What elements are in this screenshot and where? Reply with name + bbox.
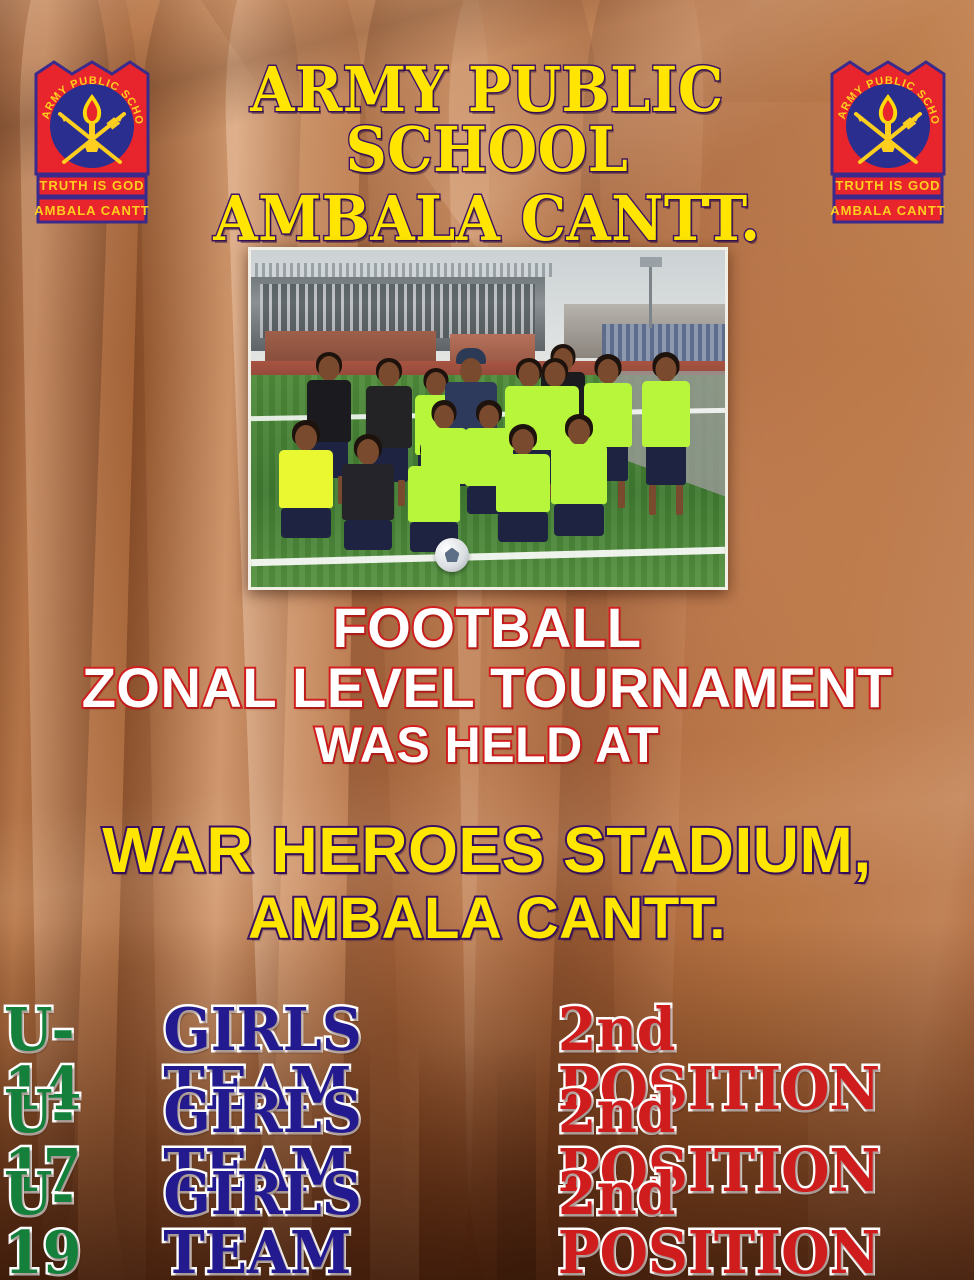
venue-line-1: WAR HEROES STADIUM, xyxy=(0,818,974,883)
school-crest-left: ARMY PUBLIC SCHOOL TRUTH IS GOD AMBALA C xyxy=(28,56,156,226)
result-row: U-14 GIRLS TEAM 2nd POSITION xyxy=(0,1000,974,1082)
result-team-label: GIRLS TEAM xyxy=(163,1164,519,1280)
event-line-2: ZONAL LEVEL TOURNAMENT xyxy=(0,660,974,716)
venue-text-block: WAR HEROES STADIUM, AMBALA CANTT. xyxy=(0,818,974,948)
school-crest-icon: ARMY PUBLIC SCHOOL TRUTH IS GOD AMBALA C xyxy=(28,56,156,226)
result-age-group: U-19 xyxy=(4,1164,134,1280)
poster-header: ARMY PUBLIC SCHOOL TRUTH IS GOD AMBALA C xyxy=(0,46,974,246)
result-position: 2nd POSITION xyxy=(558,1164,961,1280)
player-figure xyxy=(547,416,611,544)
player-figure xyxy=(275,422,337,544)
crest-motto: TRUTH IS GOD xyxy=(39,178,144,193)
venue-line-2: AMBALA CANTT. xyxy=(0,889,974,948)
school-title-line2: AMBALA CANTT. xyxy=(186,189,788,249)
result-row: U-17 GIRLS TEAM 2nd POSITION xyxy=(0,1082,974,1164)
school-title: ARMY PUBLIC SCHOOL AMBALA CANTT. xyxy=(160,60,814,249)
event-line-3: WAS HELD AT xyxy=(0,720,974,770)
team-photo xyxy=(248,247,728,590)
crest-location: AMBALA CANTT xyxy=(830,203,946,218)
event-line-1: FOOTBALL xyxy=(0,600,974,656)
crest-motto: TRUTH IS GOD xyxy=(835,178,940,193)
player-figure xyxy=(337,436,399,554)
result-row: U-19 GIRLS TEAM 2nd POSITION xyxy=(0,1164,974,1246)
player-figure xyxy=(637,354,695,518)
school-crest-icon: ARMY PUBLIC SCHOOL TRUTH IS GOD AMBALA C… xyxy=(824,56,952,226)
poster-root: ARMY PUBLIC SCHOOL TRUTH IS GOD AMBALA C xyxy=(0,0,974,1280)
school-crest-right: ARMY PUBLIC SCHOOL TRUTH IS GOD AMBALA C… xyxy=(824,56,952,226)
results-block: U-14 GIRLS TEAM 2nd POSITION U-17 GIRLS … xyxy=(0,1000,974,1246)
event-text-block: FOOTBALL ZONAL LEVEL TOURNAMENT WAS HELD… xyxy=(0,600,974,770)
crest-location: AMBALA CANTT xyxy=(34,203,150,218)
school-title-line1: ARMY PUBLIC SCHOOL xyxy=(186,60,788,179)
player-figure xyxy=(491,426,555,550)
football-icon xyxy=(435,538,469,572)
